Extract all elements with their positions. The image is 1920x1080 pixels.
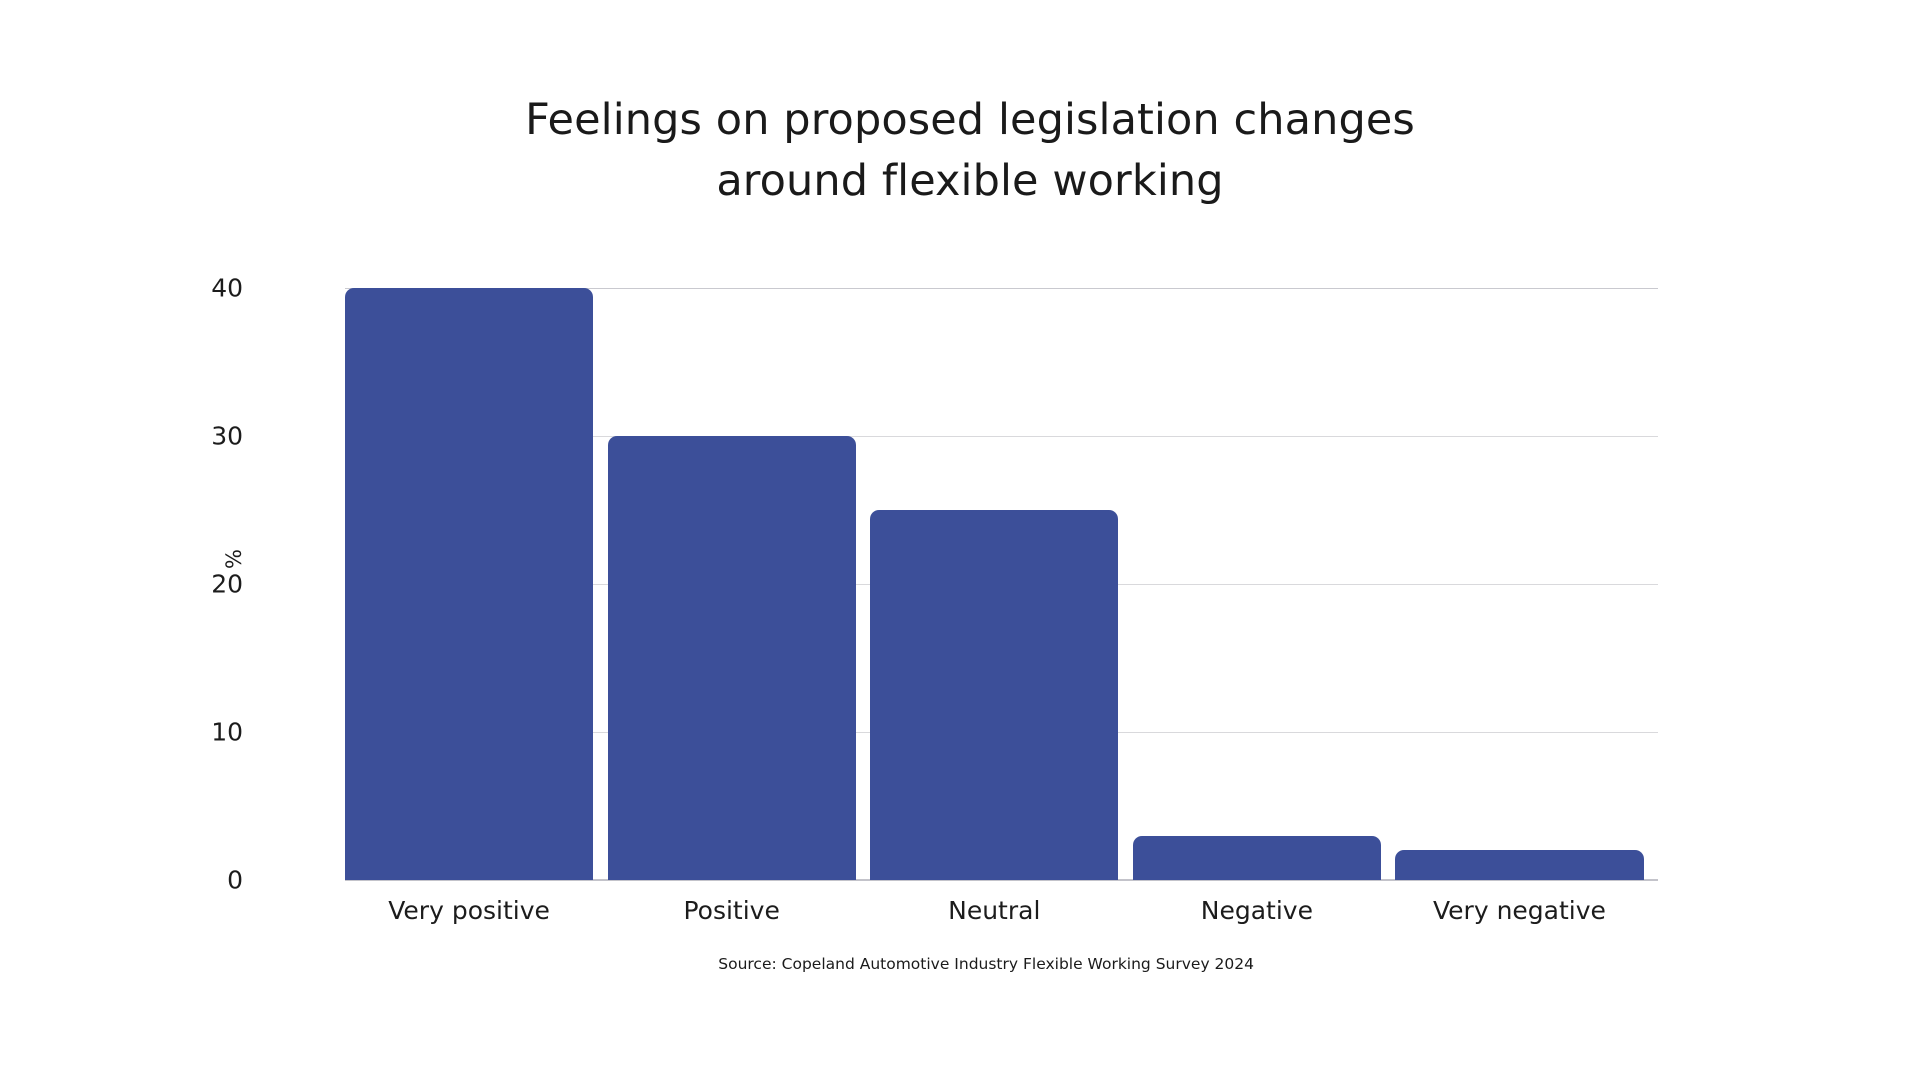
bar[interactable] (345, 288, 593, 880)
bar-slot (1133, 258, 1381, 880)
bar[interactable] (870, 510, 1118, 880)
y-axis-tick-label: 20 (173, 569, 243, 598)
bar[interactable] (1395, 850, 1643, 880)
source-note: Source: Copeland Automotive Industry Fle… (718, 955, 1254, 973)
bar-series (345, 258, 1658, 880)
y-axis-tick-label: 30 (173, 421, 243, 450)
x-axis-tick-label: Very positive (388, 896, 550, 925)
bar-slot (1395, 258, 1643, 880)
x-axis-tick-label: Positive (683, 896, 779, 925)
plot-area (345, 258, 1658, 880)
bar-slot (608, 258, 856, 880)
y-axis-tick-label: 0 (173, 866, 243, 895)
bar[interactable] (608, 436, 856, 880)
y-axis-tick-label: 40 (173, 273, 243, 302)
y-axis-tick-label: 10 (173, 717, 243, 746)
x-axis-tick-label: Neutral (948, 896, 1040, 925)
bar-slot (345, 258, 593, 880)
x-axis-tick-label: Negative (1201, 896, 1313, 925)
bar-slot (870, 258, 1118, 880)
bar[interactable] (1133, 836, 1381, 880)
chart-figure: Feelings on proposed legislation changes… (0, 0, 1920, 1080)
x-axis-tick-label: Very negative (1433, 896, 1606, 925)
y-axis-title: % (222, 549, 246, 569)
chart-title: Feelings on proposed legislation changes… (260, 90, 1680, 212)
